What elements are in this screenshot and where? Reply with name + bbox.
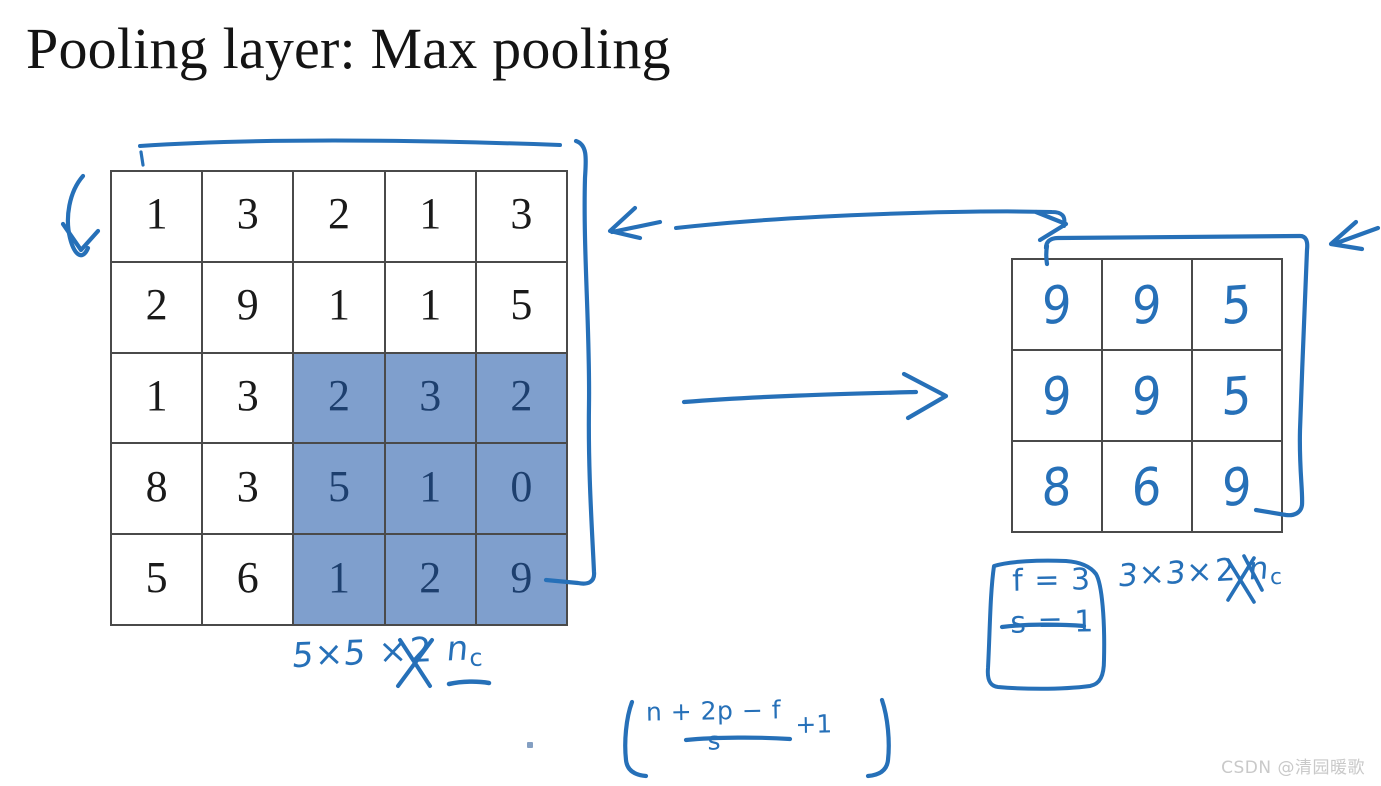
input-cell: 3 <box>203 172 294 263</box>
input-cell: 3 <box>203 354 294 445</box>
input-cell: 8 <box>112 444 203 535</box>
output-value: 8 <box>1041 460 1073 514</box>
input-cell: 1 <box>294 263 385 354</box>
arrow-left-output-icon <box>1334 228 1378 244</box>
arrow-right-transform-icon <box>684 392 916 402</box>
output-value: 5 <box>1221 369 1253 423</box>
curved-arrow-head-icon <box>63 224 98 250</box>
input-cell: 1 <box>386 263 477 354</box>
input-cell: 1 <box>386 172 477 263</box>
input-cell-highlighted: 9 <box>477 535 568 626</box>
output-value: 9 <box>1221 460 1253 514</box>
connector-arrow-head-icon <box>1036 212 1066 240</box>
input-dim-times-1: × <box>314 634 345 675</box>
hyperparameter-box: f = 3 s = 1 <box>1003 565 1100 639</box>
output-dim-channels: n <box>1247 550 1271 587</box>
input-cell: 2 <box>112 263 203 354</box>
arrow-right-transform-head-icon <box>904 374 946 418</box>
input-cell-highlighted: 2 <box>386 535 477 626</box>
formula-fraction: n + 2p − fs <box>642 697 786 754</box>
output-dim-cols: 3 <box>1164 555 1188 592</box>
output-dim-struck-value: 2 <box>1212 552 1239 589</box>
output-cell: 9 <box>1013 351 1103 442</box>
input-cell: 5 <box>477 263 568 354</box>
input-dim-rows: 5 <box>290 635 316 676</box>
output-cell: 9 <box>1103 260 1193 351</box>
arrow-left-input-head-icon <box>610 208 640 238</box>
output-dim-times-2: × <box>1185 553 1214 590</box>
output-cell: 6 <box>1103 442 1193 533</box>
output-value: 5 <box>1221 278 1253 332</box>
output-matrix: 9 9 5 9 9 5 8 6 9 <box>1011 258 1283 533</box>
input-cell-highlighted: 1 <box>386 444 477 535</box>
formula-denominator: s <box>646 724 782 754</box>
arrow-left-output-head-icon <box>1331 222 1362 249</box>
double-arrow-icon <box>140 141 560 146</box>
input-cell: 1 <box>112 354 203 445</box>
input-dim-channels: n <box>444 628 470 669</box>
output-cell: 9 <box>1013 260 1103 351</box>
input-cell-highlighted: 3 <box>386 354 477 445</box>
input-cell: 2 <box>294 172 385 263</box>
floor-bracket-right-icon <box>868 700 889 776</box>
input-cell-highlighted: 5 <box>294 444 385 535</box>
input-dimension-label: 5×5 ×2 nc <box>291 628 483 680</box>
input-cell-highlighted: 2 <box>477 354 568 445</box>
watermark: CSDN @清园暖歌 <box>1221 753 1365 778</box>
input-dim-channels-subscript: c <box>469 644 483 673</box>
output-value: 9 <box>1131 369 1163 423</box>
input-cell: 9 <box>203 263 294 354</box>
input-cell: 3 <box>477 172 568 263</box>
connector-line-icon <box>676 212 1065 228</box>
input-cell-highlighted: 0 <box>477 444 568 535</box>
formula-plus-one: +1 <box>785 711 838 737</box>
stride-label: s = 1 <box>1004 599 1101 639</box>
output-dimension-label: 3×3×2 nc <box>1117 550 1282 599</box>
input-cell-highlighted: 2 <box>294 354 385 445</box>
input-cell: 1 <box>112 172 203 263</box>
output-value: 9 <box>1041 369 1073 423</box>
formula-numerator: n + 2p − f <box>646 697 782 726</box>
curved-arrow-icon <box>68 176 88 255</box>
stray-ink-dot <box>527 742 533 748</box>
output-dim-rows: 3 <box>1116 557 1140 594</box>
underline-input-icon <box>449 682 489 684</box>
input-cell: 5 <box>112 535 203 626</box>
input-dim-times-2: × <box>378 631 409 672</box>
output-cell: 8 <box>1013 442 1103 533</box>
output-cell: 9 <box>1103 351 1193 442</box>
output-size-formula: ⌊n + 2p − fs+1⌋ <box>618 696 863 755</box>
slide-canvas: Pooling layer: Max pooling 1 3 2 1 3 2 9… <box>0 0 1381 786</box>
output-cell: 9 <box>1193 442 1283 533</box>
output-value: 9 <box>1041 278 1073 332</box>
input-cell: 6 <box>203 535 294 626</box>
input-dim-struck-value: 2 <box>407 630 435 671</box>
page-title: Pooling layer: Max pooling <box>26 12 671 86</box>
input-cell-highlighted: 1 <box>294 535 385 626</box>
output-value: 9 <box>1131 278 1163 332</box>
arrow-left-input-icon <box>612 222 660 232</box>
input-cell: 3 <box>203 444 294 535</box>
input-matrix: 1 3 2 1 3 2 9 1 1 5 1 3 2 3 2 8 3 5 1 0 … <box>110 170 568 626</box>
output-cell: 5 <box>1193 260 1283 351</box>
output-cell: 5 <box>1193 351 1283 442</box>
output-value: 6 <box>1131 460 1163 514</box>
filter-size-label: f = 3 <box>1003 565 1100 601</box>
input-dim-cols: 5 <box>342 633 368 674</box>
output-dim-times-1: × <box>1138 556 1167 593</box>
output-dim-channels-subscript: c <box>1269 565 1282 591</box>
tick-mark-icon <box>141 152 143 165</box>
